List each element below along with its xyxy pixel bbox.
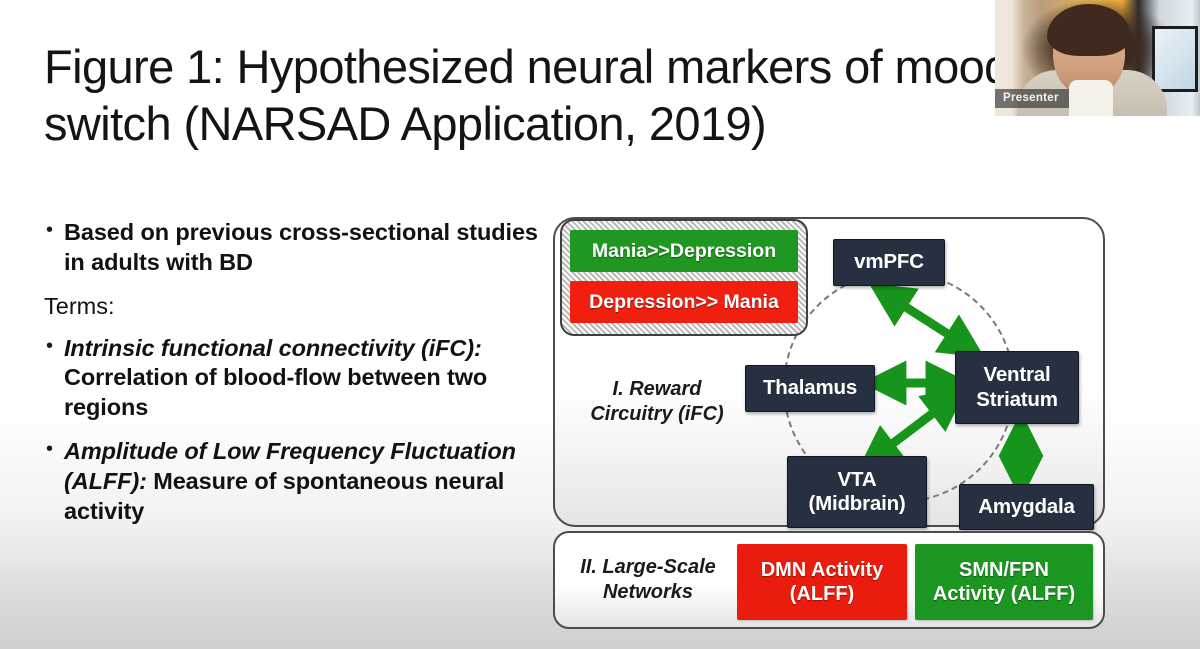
list-item: • Amplitude of Low Frequency Fluctuation…	[44, 437, 544, 527]
reward-circuitry-panel: I. Reward Circuitry (iFC) vmPFC Thala	[553, 217, 1105, 527]
body-text-column: • Based on previous cross-sectional stud…	[44, 218, 544, 541]
legend-chip-depression-greater: Depression>> Mania	[570, 281, 798, 323]
large-scale-networks-panel: II. Large-Scale Networks DMN Activity (A…	[553, 531, 1105, 629]
legend-box: Mania>>Depression Depression>> Mania	[560, 219, 808, 336]
bullet-text-2: Intrinsic functional connectivity (iFC):…	[64, 334, 544, 424]
terms-label: Terms:	[44, 292, 544, 322]
bullet-text-1: Based on previous cross-sectional studie…	[64, 218, 544, 278]
region-box-ventral-striatum[interactable]: Ventral Striatum	[955, 351, 1079, 424]
term-def-ifc: Correlation of blood-flow between two re…	[64, 364, 487, 420]
presenter-shirt	[1069, 80, 1113, 116]
page-title: Figure 1: Hypothesized neural markers of…	[44, 38, 1029, 153]
list-item: • Based on previous cross-sectional stud…	[44, 218, 544, 278]
term-name-ifc: Intrinsic functional connectivity (iFC):	[64, 335, 482, 361]
network-chip-dmn[interactable]: DMN Activity (ALFF)	[737, 544, 907, 620]
presenter-name-badge: Presenter	[995, 89, 1069, 108]
bullet-text-3: Amplitude of Low Frequency Fluctuation (…	[64, 437, 544, 527]
background-monitor	[1152, 26, 1198, 92]
presenter-hair	[1047, 4, 1131, 56]
bullet-marker-icon: •	[44, 437, 64, 527]
presenter-video-tile[interactable]: Presenter	[995, 0, 1200, 116]
bullet-marker-icon: •	[44, 218, 64, 278]
region-box-amygdala[interactable]: Amygdala	[959, 484, 1094, 530]
region-box-vmpfc[interactable]: vmPFC	[833, 239, 945, 286]
region-box-vta[interactable]: VTA (Midbrain)	[787, 456, 927, 528]
section-one-label: I. Reward Circuitry (iFC)	[577, 377, 737, 427]
figure-diagram: I. Reward Circuitry (iFC) vmPFC Thala	[553, 205, 1109, 635]
bullet-marker-icon: •	[44, 334, 64, 424]
network-chip-smn-fpn[interactable]: SMN/FPN Activity (ALFF)	[915, 544, 1093, 620]
section-two-label: II. Large-Scale Networks	[569, 555, 727, 605]
legend-chip-mania-greater: Mania>>Depression	[570, 230, 798, 272]
list-item: • Intrinsic functional connectivity (iFC…	[44, 334, 544, 424]
region-box-thalamus[interactable]: Thalamus	[745, 365, 875, 412]
